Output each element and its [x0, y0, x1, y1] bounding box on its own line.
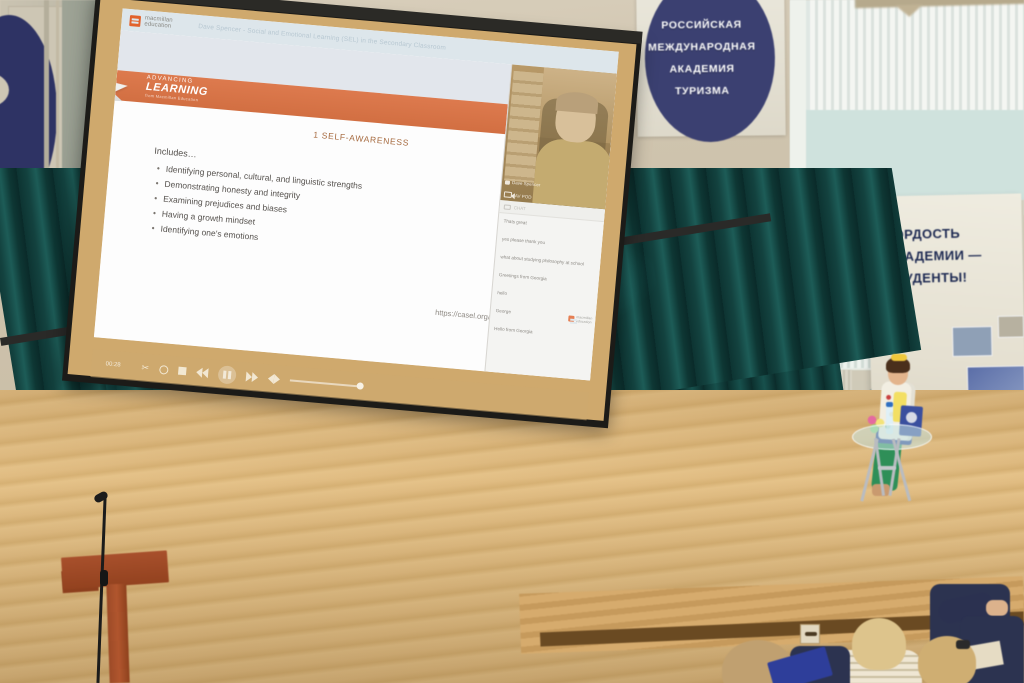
hair-clip [956, 640, 970, 649]
volume-icon[interactable] [267, 373, 280, 384]
tote-bag-emblem [906, 412, 917, 423]
record-icon[interactable] [159, 364, 169, 374]
chat-message: Hello from Georgia [494, 326, 589, 340]
macmillan-wordmark: macmillan education [576, 315, 593, 324]
stop-icon[interactable] [178, 367, 187, 376]
chat-message: what about studying philosophy at school [500, 254, 595, 268]
macmillan-wordmark: macmillan education [144, 15, 173, 30]
macmillan-wordmark-line-2: education [144, 21, 172, 30]
macmillan-mark-icon [129, 15, 141, 27]
chat-message: yes please thank you [502, 236, 597, 250]
projected-slide-canvas: macmillan education Dave Spencer - Socia… [94, 8, 619, 380]
podium-column [106, 584, 129, 683]
chat-panel-title: CHAT [514, 205, 526, 211]
av-pod-badge[interactable]: AV POD [504, 191, 532, 199]
scissors-icon[interactable]: ✂ [141, 363, 149, 373]
lecture-hall-photo: РОССИЙСКАЯ МЕЖДУНАРОДНАЯ АКАДЕМИЯ ТУРИЗМ… [0, 0, 1024, 683]
fast-forward-icon[interactable] [245, 372, 258, 383]
audience-member-head [852, 618, 906, 670]
vertical-blinds-icon [810, 0, 1024, 112]
projection-screen: macmillan education Dave Spencer - Socia… [61, 0, 654, 439]
av-pod-label: AV POD [515, 193, 532, 199]
table-leg-hub [878, 466, 896, 470]
video-camera-icon [504, 191, 512, 198]
academy-banner-line-2: МЕЖДУНАРОДНАЯ [637, 35, 767, 58]
microphone-clamp [100, 570, 108, 586]
audience-member-hand [986, 600, 1008, 616]
academy-banner-line-1: РОССИЙСКАЯ [636, 13, 766, 36]
playback-time: 00:28 [105, 361, 131, 369]
webcam-participant-name: Dave Spencer [512, 180, 541, 187]
macmillan-logo: macmillan education [129, 14, 173, 31]
water-bottle-cap [886, 402, 893, 407]
chat-message: Greetings from Georgia [499, 272, 594, 286]
floor-vent [800, 624, 820, 644]
macmillan-mark-icon [568, 315, 575, 322]
webcam-video-tile[interactable]: Dave Spencer AV POD [500, 65, 616, 210]
academy-banner-line-4: ТУРИЗМА [637, 79, 767, 102]
glass-table-top [852, 424, 932, 450]
academy-banner-line-3: АКАДЕМИЯ [637, 57, 767, 80]
camera-icon [505, 180, 510, 184]
volume-slider[interactable] [289, 379, 361, 387]
chat-message: Thats great [503, 218, 598, 232]
chat-bubble-icon [504, 204, 511, 210]
pause-icon[interactable] [217, 365, 237, 385]
academy-banner-top: РОССИЙСКАЯ МЕЖДУНАРОДНАЯ АКАДЕМИЯ ТУРИЗМ… [636, 0, 785, 137]
webcam-speaker-body [532, 137, 613, 209]
rewind-icon[interactable] [195, 367, 208, 378]
advancing-learning-lockup: ADVANCING LEARNING from Macmillan Educat… [145, 75, 209, 103]
presenter-headband [891, 354, 907, 361]
volume-slider-knob[interactable] [356, 382, 364, 390]
chat-message: hello [497, 290, 592, 304]
academy-banner-text: РОССИЙСКАЯ МЕЖДУНАРОДНАЯ АКАДЕМИЯ ТУРИЗМ… [636, 13, 767, 102]
